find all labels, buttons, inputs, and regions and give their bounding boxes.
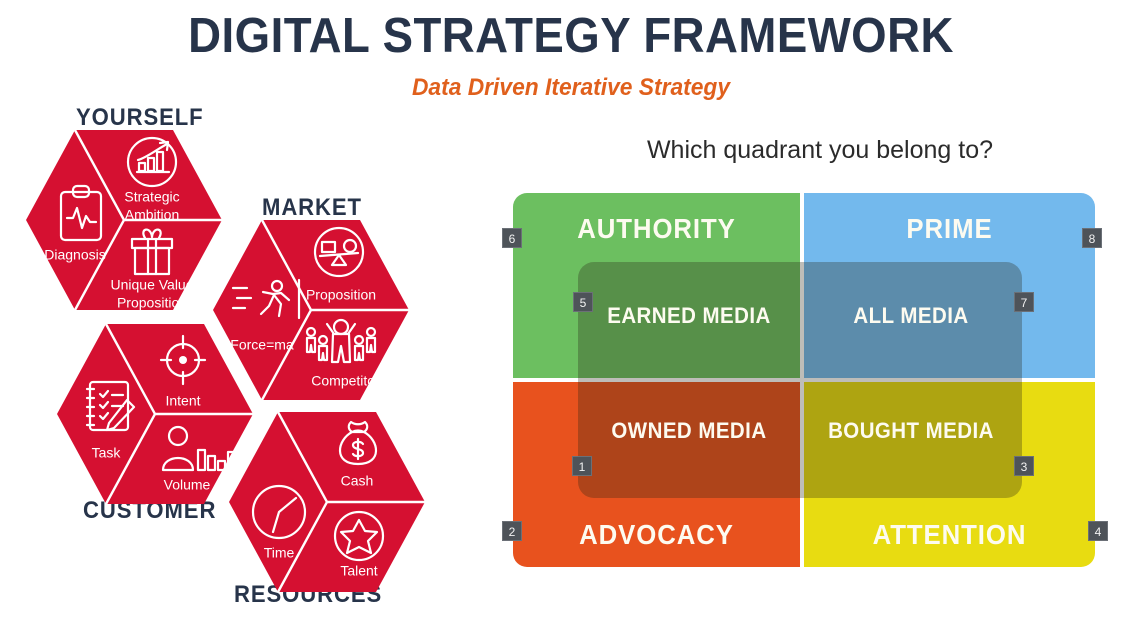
hex-segment-time[interactable]: [229, 412, 327, 592]
badge-5[interactable]: 5: [573, 292, 593, 312]
quadrant-authority[interactable]: AUTHORITY: [513, 193, 800, 378]
hex-segment-label-volume: Volume: [164, 477, 211, 493]
hex-segment-label-intent: Intent: [165, 393, 200, 409]
overlay-label-all-media: ALL MEDIA: [808, 303, 1014, 329]
hexagon-cluster: YOURSELF MARKET CUSTOMER RESOURCES: [0, 0, 470, 632]
badge-8[interactable]: 8: [1082, 228, 1102, 248]
overlay-label-owned-media: OWNED MEDIA: [586, 418, 792, 444]
overlay-label-bought-media: BOUGHT MEDIA: [808, 418, 1014, 444]
hex-segment-label-proposition: Proposition: [306, 287, 376, 303]
infographic-canvas: DIGITAL STRATEGY FRAMEWORK Data Driven I…: [0, 0, 1142, 632]
badge-7[interactable]: 7: [1014, 292, 1034, 312]
overlay-label-earned-media: EARNED MEDIA: [586, 303, 792, 329]
badge-3[interactable]: 3: [1014, 456, 1034, 476]
quadrant-chart: AUTHORITY PRIME ADVOCACY ATTENTION EARNE…: [513, 193, 1095, 567]
quadrant-advocacy[interactable]: ADVOCACY: [513, 382, 800, 567]
quadrant-label-authority: AUTHORITY: [524, 213, 788, 245]
hex-segment-diagnosis[interactable]: [26, 130, 124, 310]
hex-customer[interactable]: Task Intent Volume: [57, 322, 253, 506]
badge-6[interactable]: 6: [502, 228, 522, 248]
quadrant-label-prime: PRIME: [816, 213, 1084, 245]
badge-2[interactable]: 2: [502, 521, 522, 541]
badge-4[interactable]: 4: [1088, 521, 1108, 541]
quadrant-label-advocacy: ADVOCACY: [524, 519, 788, 551]
hex-segment-label-uvp-2: Proposition: [117, 295, 187, 311]
hex-segment-label-diagnosis: Diagnosis: [44, 247, 105, 263]
hex-segment-label-talent: Talent: [340, 563, 377, 579]
hex-segment-label-task: Task: [92, 445, 122, 461]
hex-segment-label-strategic-2: Ambition: [125, 207, 179, 223]
hex-segment-label-time: Time: [264, 545, 295, 561]
hex-segment-label-cash: Cash: [341, 473, 374, 489]
hex-yourself[interactable]: Diagnosis Strategic Ambition: [26, 128, 222, 312]
hex-segment-label-uvp-1: Unique Value: [110, 277, 193, 293]
hex-segment-label-strategic-1: Strategic: [124, 189, 179, 205]
quadrant-question: Which quadrant you belong to?: [560, 136, 1080, 165]
quadrant-label-attention: ATTENTION: [816, 519, 1084, 551]
hex-resources[interactable]: Time Cash Talent: [229, 410, 425, 594]
badge-1[interactable]: 1: [572, 456, 592, 476]
quadrant-attention[interactable]: ATTENTION: [804, 382, 1095, 567]
quadrant-prime[interactable]: PRIME: [804, 193, 1095, 378]
hex-segment-label-competitors: Competitors: [311, 373, 386, 389]
